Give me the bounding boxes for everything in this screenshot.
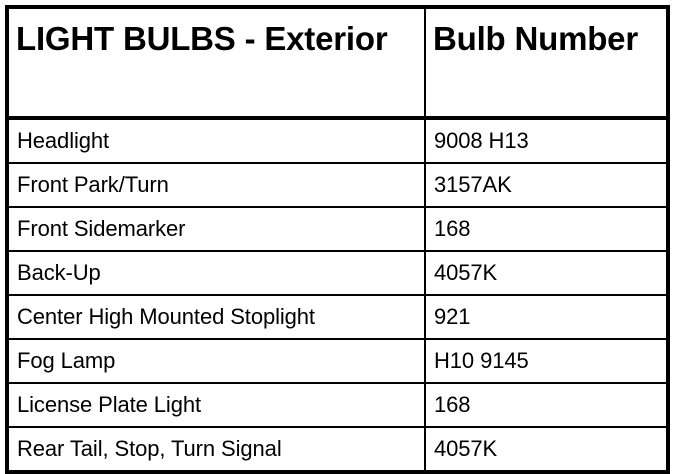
cell-bulb-number: 4057K bbox=[425, 427, 668, 472]
cell-bulb-number: 168 bbox=[425, 383, 668, 427]
page-root: LIGHT BULBS - Exterior Bulb Number Headl… bbox=[0, 0, 688, 454]
table-row: Rear Tail, Stop, Turn Signal 4057K bbox=[7, 427, 668, 472]
cell-bulb-number: H10 9145 bbox=[425, 339, 668, 383]
table-body: Headlight 9008 H13 Front Park/Turn 3157A… bbox=[7, 118, 668, 472]
table-row: Front Sidemarker 168 bbox=[7, 207, 668, 251]
table-row: Front Park/Turn 3157AK bbox=[7, 163, 668, 207]
cell-bulb-name: Fog Lamp bbox=[7, 339, 425, 383]
cell-bulb-number: 9008 H13 bbox=[425, 118, 668, 163]
light-bulbs-table: LIGHT BULBS - Exterior Bulb Number Headl… bbox=[5, 5, 670, 474]
cell-bulb-name: Rear Tail, Stop, Turn Signal bbox=[7, 427, 425, 472]
cell-bulb-name: Front Park/Turn bbox=[7, 163, 425, 207]
table-row: Fog Lamp H10 9145 bbox=[7, 339, 668, 383]
table-row: Center High Mounted Stoplight 921 bbox=[7, 295, 668, 339]
column-header-bulb-number: Bulb Number bbox=[425, 7, 668, 118]
cell-bulb-number: 921 bbox=[425, 295, 668, 339]
table-row: Headlight 9008 H13 bbox=[7, 118, 668, 163]
cell-bulb-name: Center High Mounted Stoplight bbox=[7, 295, 425, 339]
cell-bulb-number: 3157AK bbox=[425, 163, 668, 207]
cell-bulb-name: Front Sidemarker bbox=[7, 207, 425, 251]
table-row: License Plate Light 168 bbox=[7, 383, 668, 427]
cell-bulb-number: 4057K bbox=[425, 251, 668, 295]
cell-bulb-number: 168 bbox=[425, 207, 668, 251]
table-header: LIGHT BULBS - Exterior Bulb Number bbox=[7, 7, 668, 118]
cell-bulb-name: Headlight bbox=[7, 118, 425, 163]
header-row: LIGHT BULBS - Exterior Bulb Number bbox=[7, 7, 668, 118]
cell-bulb-name: License Plate Light bbox=[7, 383, 425, 427]
table-row: Back-Up 4057K bbox=[7, 251, 668, 295]
cell-bulb-name: Back-Up bbox=[7, 251, 425, 295]
column-header-light-bulbs-exterior: LIGHT BULBS - Exterior bbox=[7, 7, 425, 118]
